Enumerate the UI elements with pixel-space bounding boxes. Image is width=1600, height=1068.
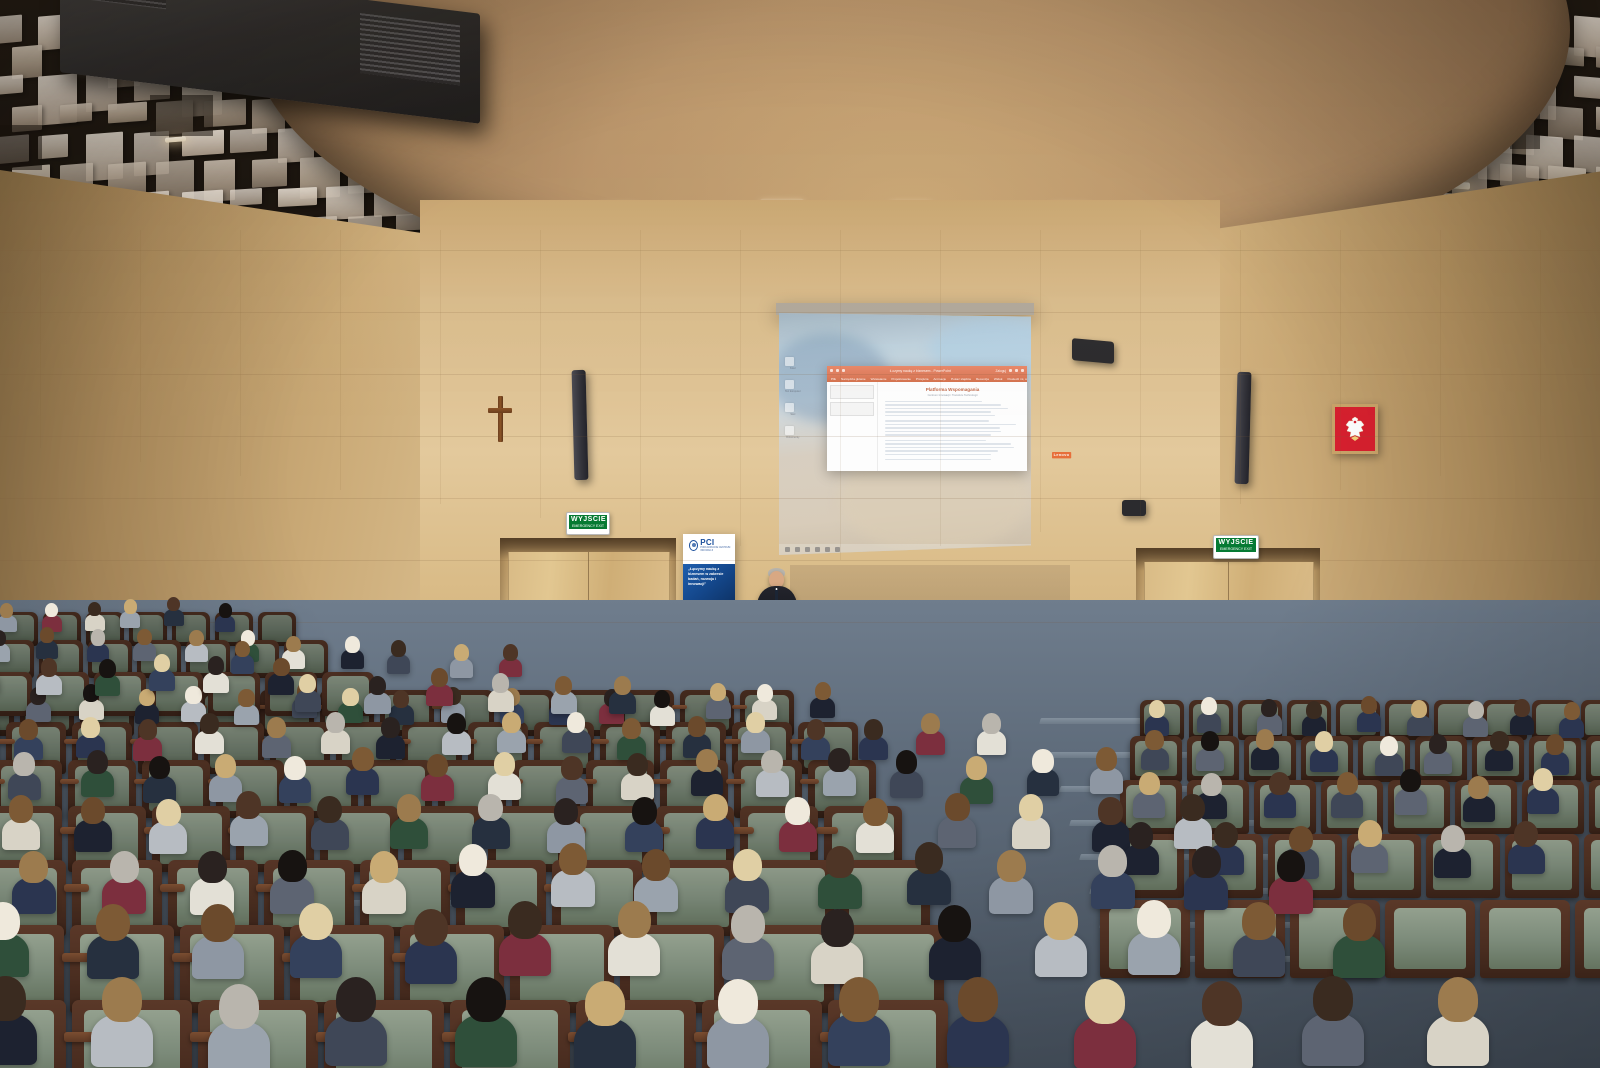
wall-speaker-right [1072,338,1114,364]
exit-sign-right-sub: EMERGENCY EXIT [1218,547,1254,551]
audience-member-torso [696,816,734,848]
audience-member [330,977,383,1061]
ribbon-tab-4[interactable]: Przejścia [916,377,929,381]
audience-member [893,750,921,794]
projection-screen: Kosz Ten komputer Sieć Dokumenty Ł.czymy… [779,313,1031,555]
wall-panel-seam-vertical [840,230,841,560]
audience-member-hair [208,656,225,675]
audience-member [1198,697,1219,730]
audience-member-torso [421,773,454,801]
audience-member [699,794,731,845]
audience-member [553,676,575,712]
audience-member [89,629,108,659]
seat-cushion [1591,741,1600,777]
audience-member [1397,769,1424,812]
audience-member-hair [585,981,625,1026]
document-body-lines [885,401,1020,460]
ceiling-baffle-fin [252,158,287,188]
slide-thumbnail[interactable] [830,385,874,399]
ribbon-tab-6[interactable]: Pokaz slajdów [951,377,971,381]
audience-member [196,904,240,974]
audience-member [490,673,512,709]
auditorium-photo: WYJŚCIE EMERGENCY EXIT WYJŚCIE EMERGENCY… [0,0,1600,1068]
audience-member [500,712,524,751]
document-pane[interactable]: Platforma Wspomagania Centrum Innowacji … [878,382,1027,471]
document-text-line [885,447,1014,448]
audience-member [1426,734,1450,772]
audience-member [1253,729,1277,767]
audience-member-hair [821,909,855,947]
audience-member [460,977,513,1061]
ceiling-baffle-fin [1596,107,1600,132]
slide-thumbnail-pane[interactable] [827,382,878,471]
audience-member-hair [139,719,158,740]
audience-member-hair [81,717,100,738]
audience-member-hair [632,797,657,825]
audience-member-hair [391,640,406,657]
white-eagle-icon [1342,414,1368,444]
browser-icon[interactable] [825,547,830,552]
audience-member [729,849,766,908]
audience-member-hair [1098,845,1127,877]
audience-member [1029,749,1057,793]
audience-member-hair [839,977,879,1022]
audience-member [136,689,157,722]
audience-member-hair [1514,699,1530,717]
audience-member [454,844,491,903]
audience-member [1337,903,1381,973]
audience-member [821,846,858,905]
audience-member-hair [1145,730,1163,750]
minimize-icon[interactable] [1009,369,1012,372]
audience-member-hair [1441,825,1465,852]
audience-member-hair [826,846,855,878]
audience-member [993,850,1030,909]
audience-member-hair [45,603,58,618]
document-text-line [885,424,1016,425]
audience-member-hair [336,977,376,1022]
audience-member [1237,902,1281,972]
audience-member-hair [0,902,20,940]
audience-member-hair [966,756,987,780]
wall-panel-seam [0,560,1600,561]
audience-member [1136,772,1163,815]
document-text-line [885,404,1001,405]
audience-member [620,718,644,757]
audience-member-hair [235,641,250,658]
audience-member-hair [91,629,106,645]
ceiling-baffle-fin [230,128,267,153]
audience-member-torso [1264,791,1296,818]
audience-member-hair [284,756,305,780]
audience-member-hair [466,977,506,1022]
audience-member-hair [1242,902,1276,940]
audience-member [579,981,632,1065]
audience-member-hair [1261,699,1277,717]
audience-member [1188,846,1225,905]
seat-cushion [1489,908,1561,969]
audience-member-hair [1358,820,1382,847]
audience-member [213,984,266,1068]
audience-member-hair [156,799,181,827]
audience-member-hair [1085,979,1125,1024]
undo-icon[interactable] [836,369,839,372]
audience-member-hair [149,756,170,780]
audience-member [297,674,319,710]
audience-member-torso [290,934,342,978]
audience-member-hair [1411,700,1427,718]
audience-member-hair [1269,772,1290,795]
audience-member-torso [405,939,457,983]
search-icon[interactable] [795,547,800,552]
audience-member-hair [807,719,826,740]
auditorium-seat [1575,900,1600,978]
audience-member-hair [219,984,259,1029]
audience-member [712,979,765,1063]
audience-member-hair [1044,902,1078,940]
audience-member-hair [503,644,518,661]
audience-member-hair [1337,772,1358,795]
audience-member-hair [1306,701,1322,719]
seat-armrest [526,739,543,744]
wall-panel-seam [0,498,1600,499]
audience-member-hair [703,794,728,822]
audience-member-hair [864,719,883,740]
audience-member [97,659,119,694]
audience-member-hair [278,850,307,882]
wall-panel-seam-vertical [140,230,141,462]
audience-member-hair [299,903,333,941]
audience-member [393,794,425,845]
audience-member-hair [896,750,917,774]
audience-member-hair [87,750,108,774]
auditorium-seat [1586,736,1600,782]
folder-icon[interactable]: Dokumenty [785,426,801,439]
audience-member [1465,701,1486,734]
audience-member [491,752,519,796]
audience-member-hair [1180,794,1205,822]
auditorium-seat [1385,900,1475,978]
audience-member-hair [1277,850,1306,882]
audience-member [1377,736,1401,774]
audience-member-torso [608,932,660,976]
audience-member [726,905,770,975]
wall-panel-seam-vertical [640,230,641,532]
audience-member-hair [215,754,236,778]
audience-member-hair [19,719,38,740]
audience-member-hair [154,654,171,673]
seat-cushion [0,676,27,710]
audience-member-torso [74,819,112,851]
audience-member [1312,731,1336,769]
ptz-camera [1122,500,1146,516]
audience-member-hair [1137,900,1171,938]
audience-member-hair [454,644,469,661]
audience-member [859,798,891,849]
audience-member [708,683,729,716]
audience-member-hair [0,976,26,1021]
audience-member [84,750,112,794]
audience-member-hair [198,851,227,883]
audience-member-hair [1468,776,1489,799]
audience-member-hair [1256,729,1274,749]
banner-headline-block: „Łączymy naukę z biznesem w zakresie bad… [683,564,735,600]
explorer-icon[interactable] [815,547,820,552]
audience-member-hair [137,629,152,645]
audience-member [233,791,265,842]
this-pc-icon[interactable]: Ten komputer [785,380,801,393]
presentation-app-window[interactable]: Ł.czymy naukę z biznesem - PowerPoint Za… [827,366,1027,471]
audience-member-hair [958,977,998,1022]
audience-member-hair [427,754,448,778]
recycle-bin-icon[interactable]: Kosz [785,357,801,370]
audience-member-hair [99,659,116,678]
wall-panel-seam-vertical [740,230,741,546]
audience-member [409,909,453,979]
audience-member-torso [85,614,105,631]
pci-logo-text: PCI [700,539,735,547]
document-title: Platforma Wspomagania [885,387,1020,392]
audience-member-hair [200,713,219,734]
audience-member-hair [1514,821,1538,848]
wall-panel-seam-vertical [240,230,241,476]
audience-member-hair [559,843,588,875]
audience-member-hair [1438,977,1478,1022]
quick-save-icon[interactable] [830,369,833,372]
audience-member-hair [1096,747,1117,771]
audience-member [1095,797,1127,848]
ribbon-tab-10[interactable]: Powiedz mi, co chcesz zrobić [1007,377,1027,381]
audience-member-hair [1201,773,1222,796]
audience-member-hair [561,756,582,780]
audience-member [1358,696,1379,729]
document-text-line [885,459,991,460]
audience-member-torso [1174,817,1212,849]
audience-member [152,799,184,850]
document-text-line [885,420,989,421]
audience-member-hair [478,794,503,822]
audience-member-hair [124,599,137,614]
audience-member [1094,845,1131,904]
document-text-line [885,411,991,412]
audience-member-hair [921,713,940,734]
audience-member-hair [1098,797,1123,825]
audience-member-hair [1192,846,1221,878]
audience-member [1093,747,1121,791]
audience-member-torso [1527,787,1559,814]
audience-member [349,747,377,791]
ribbon-tab-0[interactable]: Plik [831,377,836,381]
audience-member [1039,902,1083,972]
seat-armrest [652,779,671,785]
desktop-icon-column: Kosz Ten komputer Sieć Dokumenty [785,357,801,439]
seat-armrest [672,705,687,710]
audience-member [281,756,309,800]
audience-member [941,793,973,844]
audience-member-hair [1315,731,1333,751]
audience-member-hair [139,689,155,707]
audience-member-hair [1313,976,1353,1021]
ribbon-tab-bar[interactable]: Plik Narzędzia główne Wstawianie Projekt… [827,375,1027,382]
audience-member-hair [1032,749,1053,773]
audience-member [136,719,160,758]
audience-member-hair [554,798,579,826]
audience-member-hair [1468,701,1484,719]
audience-member-hair [622,718,641,739]
audience-member-torso [977,730,1006,754]
slide-thumbnail[interactable] [830,402,874,416]
audience-member [1511,699,1532,732]
audience-member-hair [238,689,254,707]
audience-member [365,851,402,910]
audience-member [444,713,468,752]
audience-member-torso [1508,843,1545,874]
audience-member-hair [189,630,204,646]
audience-member-torso [621,772,654,800]
audience-member-hair [81,797,106,825]
audience-member-torso [1196,748,1224,772]
seat-armrest [60,779,79,785]
audience-member-hair [828,748,849,772]
wall-panel-seam-vertical [40,230,41,448]
audience-member [1488,731,1512,769]
audience-member-hair [447,713,466,734]
audience-member [37,627,56,657]
audience-member [624,753,652,797]
audience-member-torso [551,869,595,906]
audience-member-hair [710,683,726,701]
audience-member [424,754,452,798]
document-text-line [885,443,1011,444]
audience-member-hair [815,682,831,700]
pci-logo: PCI PODKARPACKIE CENTRUM INNOWACJI [689,539,735,552]
audience-member-torso [268,673,294,695]
redo-icon[interactable] [842,369,845,372]
projection-screen-frame [776,303,1034,315]
ribbon-tab-7[interactable]: Recenzja [976,377,989,381]
audience-member-torso [87,934,139,978]
audience-member-hair [654,690,670,708]
audience-member-hair [567,712,586,733]
audience-member [0,902,25,972]
audience-member-hair [1380,736,1398,756]
audience-member [86,602,103,629]
ceiling-baffle-fin [12,44,42,79]
ribbon-tab-8[interactable]: Widok [994,377,1003,381]
start-icon[interactable] [785,547,790,552]
audience-member-hair [1564,702,1580,720]
audience-member [475,794,507,845]
audience-member [91,904,135,974]
audience-member-torso [91,1014,153,1067]
account-label[interactable]: Zaloguj [996,369,1006,373]
audience-member-hair [1361,696,1377,714]
exit-sign-left: WYJŚCIE EMERGENCY EXIT [566,512,610,535]
maximize-icon[interactable] [1015,369,1018,372]
network-icon[interactable]: Sieć [785,403,801,416]
audience-member-hair [185,686,201,704]
ribbon-tab-1[interactable]: Narzędzia główne [841,377,866,381]
audience-member [833,977,886,1061]
close-icon[interactable] [1021,369,1024,372]
audience-member [264,717,288,756]
audience-member [1409,700,1430,733]
audience-member-hair [88,602,101,617]
audience-member [693,749,721,793]
audience-member-torso [1395,788,1427,815]
audience-member-torso [164,609,184,626]
audience-member [232,641,252,672]
ceiling-baffle-fin [326,185,364,220]
audience-member-torso [1463,795,1495,822]
ceiling-void [0,125,42,170]
document-subtitle: Centrum Innowacji i Transferu Technologi… [885,394,1020,397]
audience-member-hair [1289,826,1313,853]
audience-member-torso [756,769,789,797]
audience-member [106,851,143,910]
ribbon-tab-2[interactable]: Wstawianie [871,377,887,381]
wall-panel-seam-vertical [1540,230,1541,462]
audience-member-hair [201,904,235,942]
audience-member [815,909,859,979]
seat-armrest [726,779,745,785]
audience-member-hair [40,627,55,643]
audience-member-hair [370,851,399,883]
audience-member-torso [231,654,254,674]
audience-member [343,636,363,667]
audience-member [550,798,582,849]
audience-member-torso [149,669,175,691]
audience-member [1543,734,1567,772]
ceiling-baffle-fin [38,133,68,159]
ribbon-tab-3[interactable]: Projektowanie [891,377,910,381]
audience-member-hair [102,977,142,1022]
audience-member-hair [345,636,360,653]
audience-member-hair [326,712,345,733]
audience-member [611,676,633,712]
audience-member [145,756,173,800]
audience-member [1432,977,1485,1061]
audience-member-hair [1202,981,1242,1026]
audience-member-hair [273,658,290,677]
wall-panel-seam-vertical [440,230,441,504]
audience-member [555,843,592,902]
audience-member [861,719,885,758]
audience-member [0,603,15,630]
audience-member-hair [342,688,358,706]
audience-member-hair [1214,822,1238,849]
audience-member-hair [733,849,762,881]
audience-member-hair [1533,768,1554,791]
audience-member-hair [494,752,515,776]
audience-member [628,797,660,848]
audience-member [1079,979,1132,1063]
task-view-icon[interactable] [805,547,810,552]
seat-armrest [658,739,675,744]
audience-member [38,658,60,693]
audience-member-hair [431,668,448,687]
audience-member-hair [0,603,13,618]
audience-member [95,977,148,1061]
audience-member-hair [746,712,765,733]
audience-member [205,656,227,691]
audience-member-torso [346,767,379,795]
audience-member-hair [167,597,180,612]
wall-panel-seam-vertical [1440,230,1441,476]
audience-member [313,796,345,847]
auditorium-seat [1480,900,1570,978]
audience-member-hair [982,713,1001,734]
